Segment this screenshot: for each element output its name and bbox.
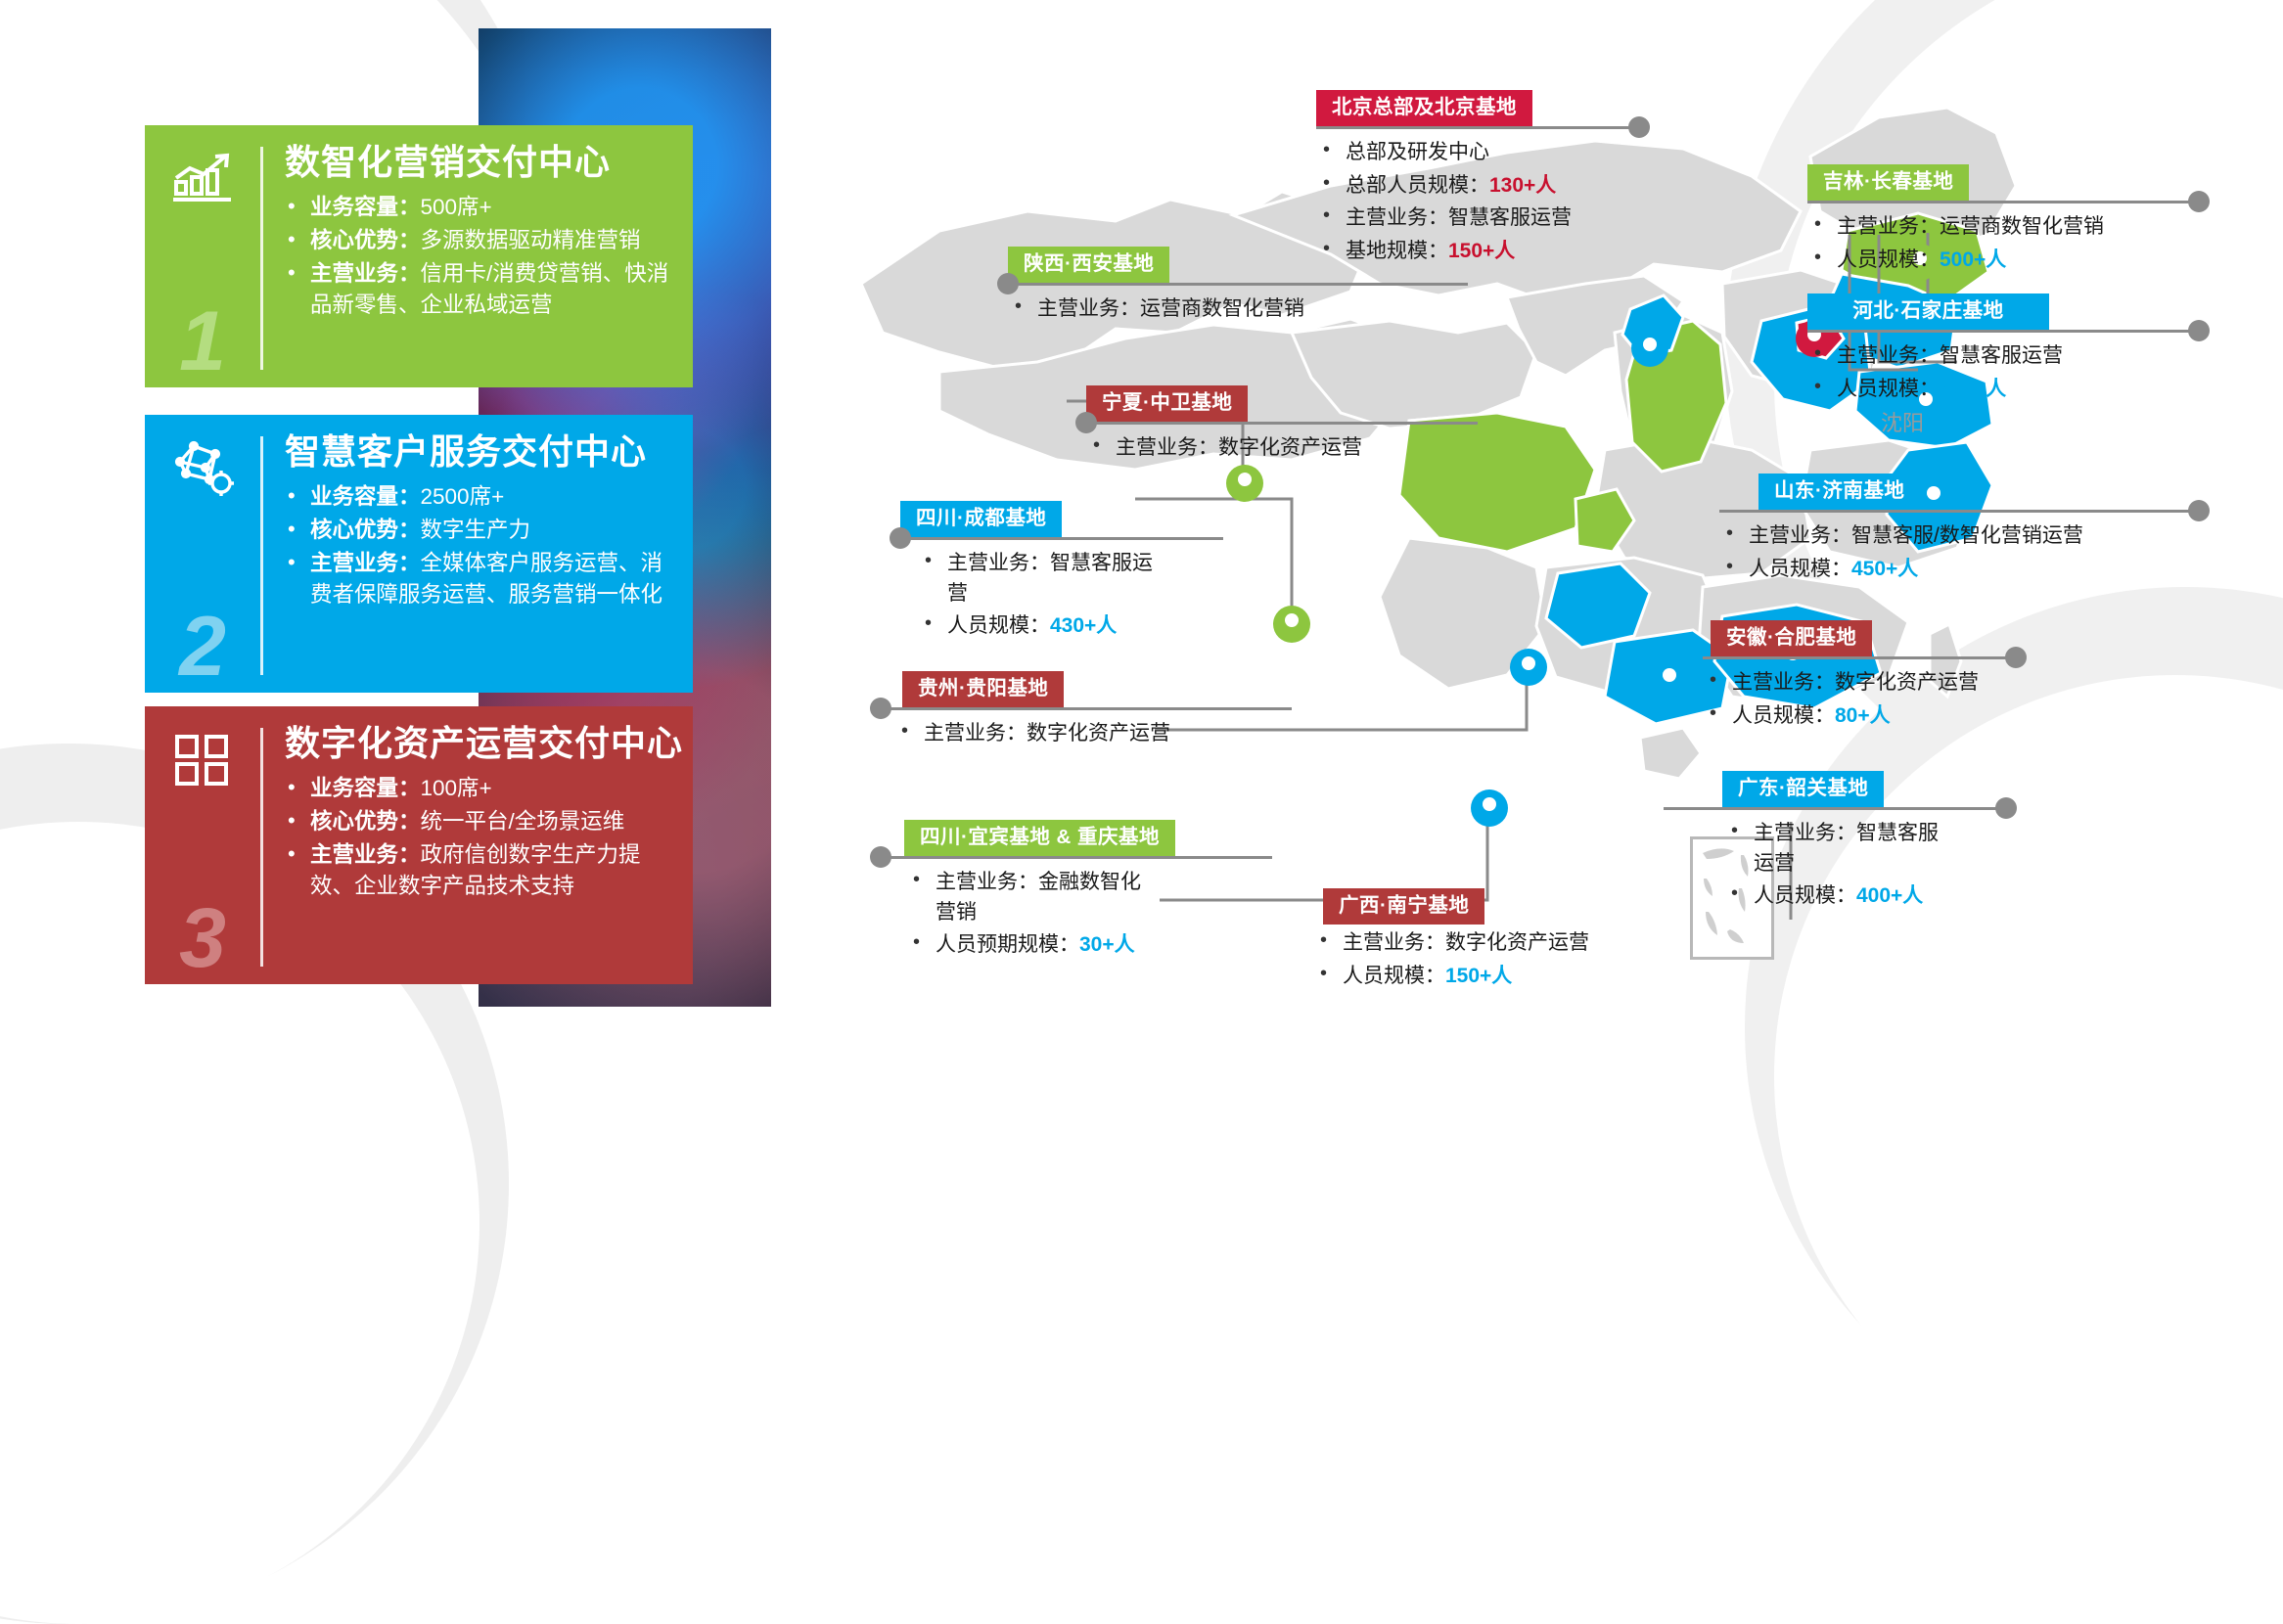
callout-shaanxi-item-value: 运营商数智化营销 <box>1140 297 1304 320</box>
card-2-item: 主营业务：全媒体客户服务运营、消费者保障服务运营、服务营销一体化 <box>285 548 675 611</box>
callout-ningxia-zhongwei[interactable]: 宁夏·中卫基地 主营业务：数字化资产运营 <box>1086 385 1478 467</box>
callout-nanning-item-value: 数字化资产运营 <box>1445 931 1589 954</box>
card-3-item: 主营业务：政府信创数字生产力提效、企业数字产品技术支持 <box>285 839 683 903</box>
callout-beijing-item: 总部人员规模：130+人 <box>1316 171 1639 201</box>
card-2-item-label: 核心优势： <box>310 518 421 542</box>
callout-hebei-item: 人员规模：720+人 <box>1807 375 2199 404</box>
callout-guizhou-guiyang[interactable]: 贵州·贵阳基地 主营业务：数字化资产运营 <box>881 671 1292 752</box>
callout-nanning-item-label: 主营业务： <box>1343 931 1445 954</box>
callout-anhui-item-value: 80+人 <box>1835 704 1891 727</box>
callout-guangdong-item: 人员规模：400+人 <box>1724 881 1951 911</box>
capability-card-3[interactable]: 3 数字化资产运营交付中心 业务容量：100席+ 核心优势：统一平台/全场景运维… <box>145 706 693 984</box>
callout-shaanxi-dot-icon <box>997 273 1019 294</box>
callout-beijing-item-label: 总部及研发中心 <box>1346 141 1489 163</box>
callout-shandong-item-value: 智慧客服/数智化营销运营 <box>1851 524 2083 547</box>
callout-chengdu-item-value: 430+人 <box>1050 614 1117 637</box>
callout-shaanxi-tag: 陕西·西安基地 <box>1008 247 1169 283</box>
callout-jilin-item: 主营业务：运营商数智化营销 <box>1807 212 2199 242</box>
card-3-left-rail: 3 <box>145 706 260 984</box>
callout-ningxia-tag: 宁夏·中卫基地 <box>1086 385 1248 422</box>
callout-beijing-rule <box>1316 126 1639 129</box>
card-3-item-list: 业务容量：100席+ 核心优势：统一平台/全场景运维 主营业务：政府信创数字生产… <box>285 773 683 903</box>
callout-chengdu-item: 人员规模：430+人 <box>918 611 1163 641</box>
callout-guangdong-tag: 广东·韶关基地 <box>1722 771 1884 807</box>
callout-jilin-changchun[interactable]: 吉林·长春基地 主营业务：运营商数智化营销 人员规模：500+人 <box>1807 164 2199 278</box>
callout-beijing[interactable]: 北京总部及北京基地 总部及研发中心 总部人员规模：130+人 主营业务：智慧客服… <box>1316 90 1639 269</box>
callout-jilin-item-label: 主营业务： <box>1837 215 1940 238</box>
card-1-item-label: 业务容量： <box>310 195 421 219</box>
callout-yibin-item-value: 30+人 <box>1079 933 1135 956</box>
network-cube-gear-icon <box>170 440 235 506</box>
callout-beijing-item-label: 总部人员规模： <box>1346 174 1489 197</box>
callout-beijing-item: 总部及研发中心 <box>1316 138 1639 167</box>
card-1-item-label: 核心优势： <box>310 228 421 252</box>
card-2-item-value: 2500席+ <box>421 484 505 509</box>
callout-yibin-item: 主营业务：金融数智化营销 <box>906 868 1161 927</box>
callout-nanning-tag: 广西·南宁基地 <box>1323 888 1484 925</box>
card-3-item-label: 主营业务： <box>310 842 421 867</box>
card-1-item-list: 业务容量：500席+ 核心优势：多源数据驱动精准营销 主营业务：信用卡/消费贷营… <box>285 192 675 322</box>
callout-shandong-item: 主营业务：智慧客服/数智化营销运营 <box>1719 521 2199 551</box>
callout-chengdu-item-label: 人员规模： <box>947 614 1050 637</box>
callout-jilin-item-value: 500+人 <box>1940 248 2006 271</box>
callout-nanning-item-label: 人员规模： <box>1343 965 1445 987</box>
callout-beijing-item-value: 智慧客服运营 <box>1448 206 1572 229</box>
card-3-item-value: 统一平台/全场景运维 <box>421 809 625 834</box>
card-3-item-label: 核心优势： <box>310 809 421 834</box>
callout-shaanxi-list: 主营业务：运营商数智化营销 <box>1008 294 1468 324</box>
callout-hebei-item-value: 720+人 <box>1940 378 2006 400</box>
callout-anhui-item-label: 人员规模： <box>1732 704 1835 727</box>
callout-chengdu-tag: 四川·成都基地 <box>900 501 1062 537</box>
card-1-item-label: 主营业务： <box>310 261 421 286</box>
callout-jilin-item-label: 人员规模： <box>1837 248 1940 271</box>
callout-beijing-tag: 北京总部及北京基地 <box>1316 90 1532 126</box>
map-city-label: 沈阳 <box>1881 411 1924 435</box>
callout-jilin-rule <box>1807 201 2199 203</box>
card-2-item: 核心优势：数字生产力 <box>285 515 675 547</box>
callout-anhui-item: 人员规模：80+人 <box>1703 701 2016 731</box>
callout-yibin-dot-icon <box>870 846 891 868</box>
callout-anhui-rule <box>1703 656 2016 659</box>
callout-hebei-shijiazhuang[interactable]: 河北·石家庄基地 主营业务：智慧客服运营 人员规模：720+人 <box>1807 293 2199 407</box>
card-1-number: 1 <box>145 299 260 383</box>
callout-jilin-item-value: 运营商数智化营销 <box>1940 215 2104 238</box>
card-2-item-label: 业务容量： <box>310 484 421 509</box>
callout-beijing-item: 主营业务：智慧客服运营 <box>1316 203 1639 233</box>
callout-shandong-list: 主营业务：智慧客服/数智化营销运营 人员规模：450+人 <box>1719 521 2199 584</box>
callout-shandong-item-label: 人员规模： <box>1749 558 1851 580</box>
callout-guizhou-item: 主营业务：数字化资产运营 <box>894 719 1292 748</box>
callout-shandong-jinan[interactable]: 山东·济南基地 主营业务：智慧客服/数智化营销运营 人员规模：450+人 <box>1719 474 2199 587</box>
callout-nanning-item: 主营业务：数字化资产运营 <box>1313 928 1673 958</box>
callout-guizhou-item-value: 数字化资产运营 <box>1027 722 1170 744</box>
card-2-left-rail: 2 <box>145 415 260 693</box>
callout-shandong-item: 人员规模：450+人 <box>1719 555 2199 584</box>
callout-guangdong-item-label: 人员规模： <box>1754 884 1856 907</box>
callout-jilin-tag: 吉林·长春基地 <box>1807 164 1969 201</box>
callout-anhui-list: 主营业务：数字化资产运营 人员规模：80+人 <box>1703 668 2016 731</box>
four-squares-grid-icon <box>172 732 233 793</box>
card-1-body: 数智化营销交付中心 业务容量：500席+ 核心优势：多源数据驱动精准营销 主营业… <box>263 125 693 387</box>
callout-yibin-tag: 四川·宜宾基地 & 重庆基地 <box>904 820 1175 856</box>
callout-ningxia-item-value: 数字化资产运营 <box>1218 436 1362 459</box>
callout-chengdu-list: 主营业务：智慧客服运营 人员规模：430+人 <box>918 549 1163 641</box>
callout-hebei-item-label: 人员规模： <box>1837 378 1940 400</box>
card-2-number: 2 <box>145 605 260 689</box>
callout-ningxia-item-label: 主营业务： <box>1116 436 1218 459</box>
card-1-item: 业务容量：500席+ <box>285 192 675 224</box>
callout-shaanxi-item-label: 主营业务： <box>1037 297 1140 320</box>
callout-shaanxi-xian[interactable]: 陕西·西安基地 主营业务：运营商数智化营销 <box>1008 247 1468 328</box>
card-3-item: 业务容量：100席+ <box>285 773 683 805</box>
callout-hebei-item-value: 智慧客服运营 <box>1940 344 2063 367</box>
card-2-item-list: 业务容量：2500席+ 核心优势：数字生产力 主营业务：全媒体客户服务运营、消费… <box>285 481 675 611</box>
callout-shaanxi-item: 主营业务：运营商数智化营销 <box>1008 294 1468 324</box>
callout-guizhou-dot-icon <box>870 698 891 719</box>
card-2-title: 智慧客户服务交付中心 <box>285 432 675 472</box>
callout-anhui-item: 主营业务：数字化资产运营 <box>1703 668 2016 698</box>
callout-ningxia-dot-icon <box>1075 412 1097 433</box>
capability-card-2[interactable]: 2 智慧客户服务交付中心 业务容量：2500席+ 核心优势：数字生产力 主营业务… <box>145 415 693 693</box>
callout-sichuan-yibin-chongqing[interactable]: 四川·宜宾基地 & 重庆基地 主营业务：金融数智化营销 人员预期规模：30+人 <box>881 820 1272 964</box>
card-3-title: 数字化资产运营交付中心 <box>285 724 683 763</box>
callout-hebei-tag: 河北·石家庄基地 <box>1807 293 2049 330</box>
callout-shandong-item-value: 450+人 <box>1851 558 1918 580</box>
callout-guizhou-item-label: 主营业务： <box>924 722 1027 744</box>
card-2-item-label: 主营业务： <box>310 551 421 575</box>
callout-guizhou-rule <box>881 707 1292 710</box>
callout-hebei-rule <box>1807 330 2199 333</box>
callout-shaanxi-rule <box>1008 283 1468 286</box>
bar-chart-growth-icon <box>170 151 235 212</box>
callout-guangdong-item-value: 400+人 <box>1856 884 1923 907</box>
card-2-item: 业务容量：2500席+ <box>285 481 675 514</box>
callout-sichuan-chengdu[interactable]: 四川·成都基地 主营业务：智慧客服运营 人员规模：430+人 <box>900 501 1223 645</box>
card-1-left-rail: 1 <box>145 125 260 387</box>
card-3-item-label: 业务容量： <box>310 776 421 800</box>
callout-anhui-hefei[interactable]: 安徽·合肥基地 主营业务：数字化资产运营 人员规模：80+人 <box>1703 620 2016 734</box>
callout-shandong-rule <box>1719 510 2199 513</box>
callout-beijing-item-label: 主营业务： <box>1346 206 1448 229</box>
callout-chengdu-dot-icon <box>890 527 911 549</box>
callout-yibin-item: 人员预期规模：30+人 <box>906 930 1161 960</box>
callout-guangdong-item: 主营业务：智慧客服运营 <box>1724 819 1951 879</box>
callout-ningxia-item: 主营业务：数字化资产运营 <box>1086 433 1478 463</box>
callout-ningxia-list: 主营业务：数字化资产运营 <box>1086 433 1478 463</box>
callout-nanning-item: 人员规模：150+人 <box>1313 962 1673 991</box>
callout-guangdong-item-label: 主营业务： <box>1754 822 1856 844</box>
callout-anhui-tag: 安徽·合肥基地 <box>1711 620 1872 656</box>
callout-shandong-tag: 山东·济南基地 <box>1758 474 1920 510</box>
card-1-item: 核心优势：多源数据驱动精准营销 <box>285 225 675 257</box>
callout-yibin-rule <box>881 856 1272 859</box>
card-3-item-value: 100席+ <box>421 776 492 800</box>
callout-chengdu-rule <box>900 537 1223 540</box>
callout-hebei-item: 主营业务：智慧客服运营 <box>1807 341 2199 371</box>
callout-hebei-list: 主营业务：智慧客服运营 人员规模：720+人 <box>1807 341 2199 404</box>
card-3-number: 3 <box>145 896 260 980</box>
callout-nanning-item-value: 150+人 <box>1445 965 1512 987</box>
callout-guangdong-list: 主营业务：智慧客服运营 人员规模：400+人 <box>1724 819 1951 911</box>
card-1-item-value: 500席+ <box>421 195 492 219</box>
callout-chengdu-item-label: 主营业务： <box>947 552 1050 574</box>
callout-jilin-item: 人员规模：500+人 <box>1807 246 2199 275</box>
callout-hebei-item-label: 主营业务： <box>1837 344 1940 367</box>
card-2-item-value: 数字生产力 <box>421 518 531 542</box>
callout-yibin-item-label: 人员预期规模： <box>936 933 1079 956</box>
callout-shandong-item-label: 主营业务： <box>1749 524 1851 547</box>
callout-jilin-list: 主营业务：运营商数智化营销 人员规模：500+人 <box>1807 212 2199 275</box>
card-3-body: 数字化资产运营交付中心 业务容量：100席+ 核心优势：统一平台/全场景运维 主… <box>263 706 701 984</box>
callout-nanning-list: 主营业务：数字化资产运营 人员规模：150+人 <box>1313 928 1673 991</box>
card-2-body: 智慧客户服务交付中心 业务容量：2500席+ 核心优势：数字生产力 主营业务：全… <box>263 415 693 693</box>
callout-guizhou-tag: 贵州·贵阳基地 <box>902 671 1064 707</box>
card-1-item: 主营业务：信用卡/消费贷营销、快消品新零售、企业私域运营 <box>285 258 675 322</box>
callout-guangdong-rule <box>1664 807 2006 810</box>
card-3-item: 核心优势：统一平台/全场景运维 <box>285 806 683 838</box>
callout-chengdu-item: 主营业务：智慧客服运营 <box>918 549 1163 609</box>
card-1-item-value: 多源数据驱动精准营销 <box>421 228 641 252</box>
callout-beijing-item-value: 130+人 <box>1489 174 1556 197</box>
callout-yibin-list: 主营业务：金融数智化营销 人员预期规模：30+人 <box>906 868 1161 960</box>
callout-anhui-item-value: 数字化资产运营 <box>1835 671 1979 694</box>
capability-card-1[interactable]: 1 数智化营销交付中心 业务容量：500席+ 核心优势：多源数据驱动精准营销 主… <box>145 125 693 387</box>
card-1-title: 数智化营销交付中心 <box>285 143 675 182</box>
callout-guizhou-list: 主营业务：数字化资产运营 <box>894 719 1292 748</box>
callout-yibin-item-label: 主营业务： <box>936 871 1038 893</box>
callout-guangxi-nanning[interactable]: 广西·南宁基地 主营业务：数字化资产运营 人员规模：150+人 <box>1301 888 1673 994</box>
callout-anhui-item-label: 主营业务： <box>1732 671 1835 694</box>
callout-guangdong-shaoguan[interactable]: 广东·韶关基地 主营业务：智慧客服运营 人员规模：400+人 <box>1664 771 2006 915</box>
callout-ningxia-rule <box>1086 422 1478 425</box>
